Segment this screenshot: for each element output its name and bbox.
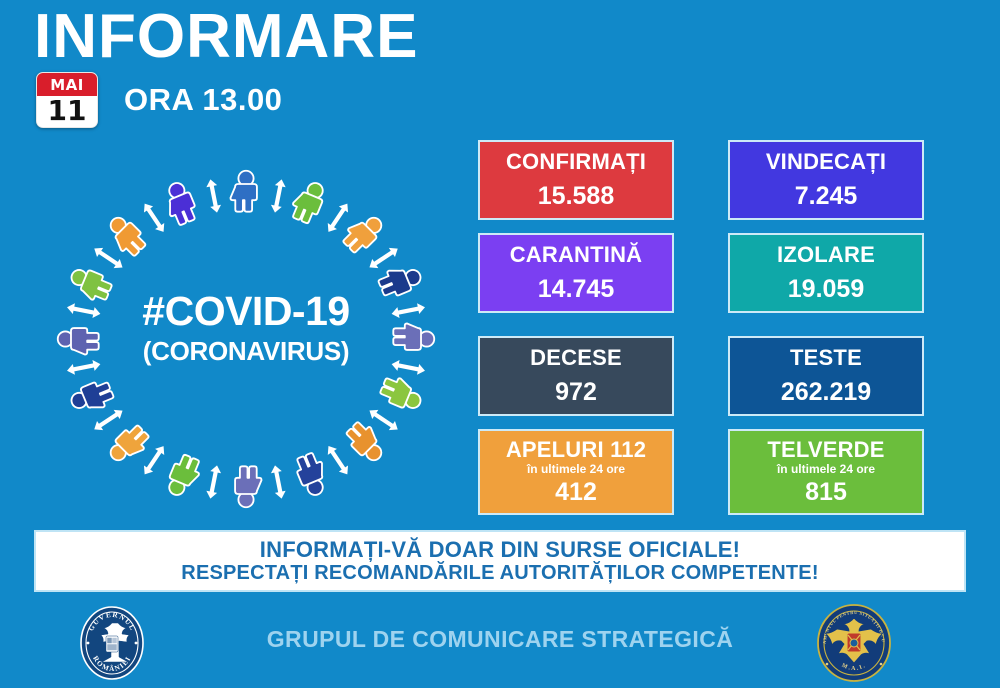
card-confirmati-value: 15.588 [538, 183, 614, 211]
people-circle-svg [32, 158, 460, 520]
person-figure [230, 171, 256, 212]
card-carantina-label: CARANTINĂ [510, 243, 643, 267]
calendar-month: MAI [37, 73, 97, 96]
double-arrow-icon [324, 443, 352, 477]
person-figure [235, 466, 261, 507]
double-arrow-icon [366, 244, 400, 272]
double-arrow-icon [140, 201, 168, 235]
person-figure [105, 421, 153, 469]
card-vindecati-label: VINDECAȚI [766, 150, 886, 174]
dsu-mai-seal-icon: DEPARTAMENTUL PENTRU SITUAȚII DE URGENȚĂ… [815, 602, 893, 684]
card-telverde-sublabel: în ultimele 24 ore [777, 463, 875, 476]
double-arrow-icon [205, 178, 222, 213]
person-figure [68, 378, 116, 418]
card-apeluri-112: APELURI 112în ultimele 24 ore412 [478, 429, 674, 515]
date-row: MAI 11 ORA 13.00 [36, 72, 282, 128]
double-arrow-icon [270, 464, 287, 499]
person-figure [339, 209, 387, 257]
person-figure [393, 323, 434, 349]
card-izolare: IZOLARE19.059 [728, 233, 924, 313]
page-title: INFORMARE [34, 4, 418, 69]
card-apeluri-112-value: 412 [555, 479, 597, 507]
people-circle-icon: #COVID-19 (CORONAVIRUS) [32, 158, 460, 520]
card-vindecati: VINDECAȚI7.245 [728, 140, 924, 220]
card-telverde: TELVERDEîn ultimele 24 ore815 [728, 429, 924, 515]
card-apeluri-112-label: APELURI 112 [506, 438, 646, 462]
card-confirmati-label: CONFIRMAȚI [506, 150, 646, 174]
person-figure [102, 212, 150, 260]
double-arrow-icon [205, 464, 222, 499]
double-arrow-icon [91, 406, 125, 434]
card-apeluri-112-sublabel: în ultimele 24 ore [527, 463, 625, 476]
card-teste-label: TESTE [790, 346, 862, 370]
double-arrow-icon [391, 302, 426, 319]
card-teste: TESTE262.219 [728, 336, 924, 416]
card-decese-value: 972 [555, 379, 597, 407]
person-figure [288, 178, 328, 226]
person-figure [160, 179, 200, 227]
person-figure [58, 328, 99, 354]
double-arrow-icon [66, 359, 101, 376]
double-arrow-icon [391, 359, 426, 376]
card-teste-value: 262.219 [781, 379, 871, 407]
people-ring [58, 171, 434, 507]
person-figure [66, 265, 114, 305]
person-figure [378, 373, 426, 413]
card-vindecati-value: 7.245 [795, 183, 858, 211]
card-decese-label: DECESE [530, 346, 622, 370]
header: INFORMARE MAI 11 ORA 13.00 [0, 0, 1000, 135]
notice-line-1: INFORMAȚI-VĂ DOAR DIN SURSE OFICIALE! [260, 537, 740, 562]
person-figure [164, 452, 204, 500]
card-telverde-value: 815 [805, 479, 847, 507]
card-izolare-value: 19.059 [788, 276, 864, 304]
calendar-day: 11 [37, 96, 97, 127]
card-carantina-value: 14.745 [538, 276, 614, 304]
double-arrow-icon [66, 302, 101, 319]
notice-line-2: RESPECTAȚI RECOMANDĂRILE AUTORITĂȚILOR C… [181, 562, 818, 585]
person-figure [376, 260, 424, 300]
card-confirmati: CONFIRMAȚI15.588 [478, 140, 674, 220]
person-figure [292, 451, 332, 499]
card-carantina: CARANTINĂ14.745 [478, 233, 674, 313]
card-decese: DECESE972 [478, 336, 674, 416]
card-telverde-label: TELVERDE [767, 438, 884, 462]
double-arrow-icon [270, 178, 287, 213]
official-sources-notice: INFORMAȚI-VĂ DOAR DIN SURSE OFICIALE! RE… [34, 530, 966, 592]
calendar-icon: MAI 11 [36, 72, 98, 128]
stats-grid: CONFIRMAȚI15.588VINDECAȚI7.245CARANTINĂ1… [478, 140, 928, 520]
card-izolare-label: IZOLARE [777, 243, 875, 267]
person-figure [342, 418, 390, 466]
guvernul-romaniei-seal-icon: GUVERNUL ROMÂNIEI [78, 604, 146, 682]
report-hour: ORA 13.00 [124, 82, 282, 118]
